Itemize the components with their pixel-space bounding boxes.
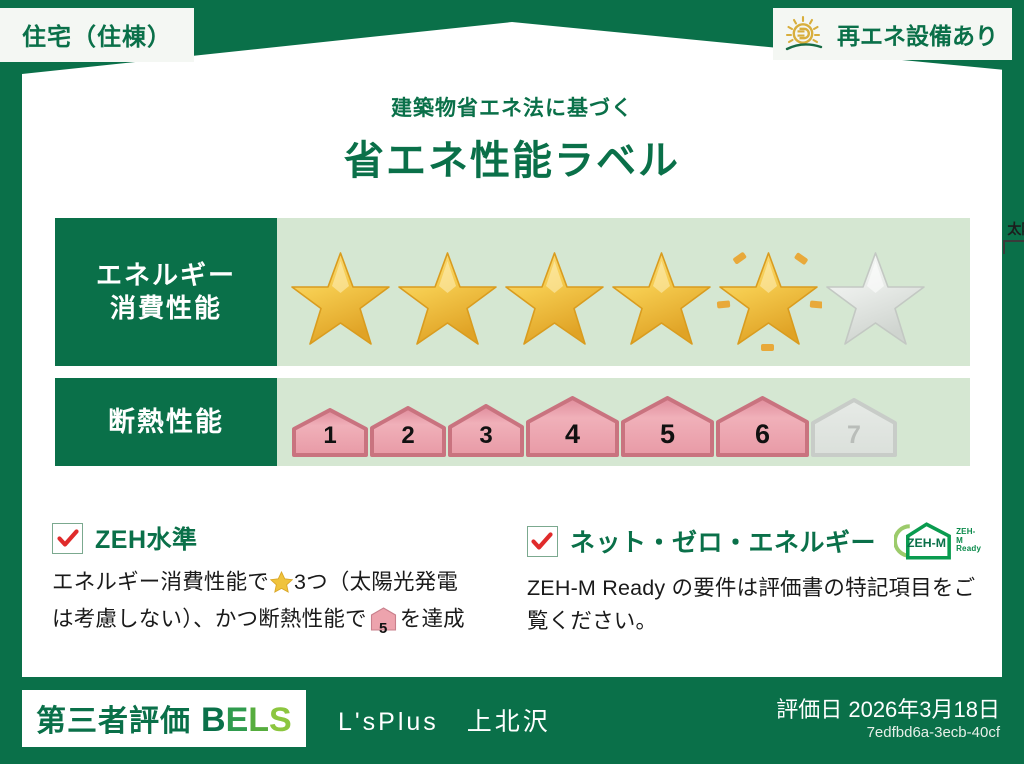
- star-filled: [608, 249, 715, 353]
- star-filled: [501, 249, 608, 353]
- check-icon: [56, 526, 80, 550]
- title-subtitle: 建築物省エネ法に基づく: [0, 92, 1024, 122]
- performance-rows: エネルギー 消費性能 太陽光発電(自家消費)分 断熱性能 1234567: [55, 218, 970, 478]
- note-nze-title: ネット・ゼロ・エネルギー: [570, 523, 876, 559]
- insulation-level-filled: 5: [620, 396, 715, 458]
- zeh-m-house-icon: ZEH-M: [894, 520, 953, 562]
- insulation-level-number: 2: [369, 422, 447, 450]
- label-title-block: 建築物省エネ法に基づく 省エネ性能ラベル: [0, 92, 1024, 186]
- check-icon: [530, 529, 554, 553]
- note-zeh-body: エネルギー消費性能で3つ（太陽光発電は考慮しない）、かつ断熱性能で5を達成: [52, 566, 499, 642]
- insulation-level-empty: 7: [810, 398, 898, 458]
- note-zeh-standard: ZEH水準 エネルギー消費性能で3つ（太陽光発電は考慮しない）、かつ断熱性能で5…: [52, 520, 499, 642]
- star-rating: [287, 246, 962, 356]
- note-nze-body: ZEH-M Ready の要件は評価書の特記項目をご覧ください。: [527, 572, 982, 639]
- zeh-m-ready-line2: Ready: [956, 544, 981, 553]
- star-filled: [287, 249, 394, 353]
- insulation-level-filled: 3: [447, 404, 525, 458]
- note-zeh-text-a: エネルギー消費性能で: [52, 570, 269, 594]
- solar-annotation-text: 太陽光発電(自家消費)分: [967, 219, 1024, 239]
- bels-badge: 第三者評価 BELS: [22, 690, 306, 747]
- insulation-level-number: 5: [620, 419, 715, 450]
- badge-renewable-equipment: 再エネ設備あり: [773, 8, 1012, 60]
- insulation-level-number: 1: [291, 422, 369, 450]
- inline-house-number: 5: [370, 617, 397, 640]
- badge-renewable-label: 再エネ設備あり: [837, 17, 998, 51]
- bels-energy-label: 住宅（住棟）: [0, 0, 1024, 764]
- badge-dwelling-label: 住宅（住棟）: [22, 24, 172, 51]
- title-main: 省エネ性能ラベル: [0, 128, 1024, 186]
- zeh-m-ready-label: ZEH-M Ready: [956, 528, 982, 554]
- row-insulation-label-line1: 断熱性能: [108, 405, 224, 440]
- evaluation-date: 評価日 2026年3月18日: [776, 692, 1000, 724]
- insulation-level-filled: 2: [369, 406, 447, 458]
- solar-annotation-bracket: [1003, 240, 1024, 254]
- insulation-level-filled: 4: [525, 396, 620, 458]
- zeh-m-logo: ZEH-M ZEH-M Ready: [894, 520, 982, 562]
- building-name: L'sPlus 上北沢: [338, 702, 551, 738]
- note-net-zero-energy: ネット・ゼロ・エネルギー ZEH-M ZEH-M Ready ZEH-M Rea…: [527, 520, 982, 642]
- svg-text:ZEH-M: ZEH-M: [907, 536, 946, 550]
- row-energy-performance: エネルギー 消費性能 太陽光発電(自家消費)分: [55, 218, 970, 366]
- evaluation-id: 7edfbd6a-3ecb-40cf: [867, 724, 1000, 741]
- insulation-scale: 1234567: [291, 386, 962, 458]
- insulation-level-number: 3: [447, 422, 525, 450]
- zeh-m-ready-line1: ZEH-M: [956, 527, 975, 545]
- badge-dwelling-type: 住宅（住棟）: [0, 8, 194, 62]
- note-zeh-header: ZEH水準: [52, 520, 499, 556]
- row-insulation-performance: 断熱性能 1234567: [55, 378, 970, 466]
- row-insulation-value: 1234567: [277, 378, 970, 466]
- insulation-level-filled: 6: [715, 396, 810, 458]
- row-energy-label: エネルギー 消費性能: [55, 218, 277, 366]
- zeh-checkbox[interactable]: [52, 523, 83, 554]
- nze-checkbox[interactable]: [527, 526, 558, 557]
- solar-sun-icon: [783, 14, 829, 54]
- bels-en-label: BELS: [201, 701, 292, 740]
- row-energy-value: 太陽光発電(自家消費)分: [277, 218, 970, 366]
- insulation-level-number: 4: [525, 419, 620, 450]
- inline-star-icon: [270, 570, 293, 603]
- row-energy-label-line1: エネルギー: [96, 259, 236, 292]
- insulation-level-number: 7: [810, 421, 898, 450]
- insulation-level-number: 6: [715, 419, 810, 450]
- row-energy-label-line2: 消費性能: [110, 292, 222, 325]
- inline-house-icon: 5: [370, 607, 397, 641]
- note-zeh-text-b: は考慮しない）、かつ断熱性能で: [52, 607, 367, 631]
- insulation-level-filled: 1: [291, 408, 369, 458]
- bels-jp-label: 第三者評価: [36, 696, 191, 740]
- note-zeh-text-c: を達成: [400, 607, 465, 631]
- note-nze-header: ネット・ゼロ・エネルギー ZEH-M ZEH-M Ready: [527, 520, 982, 562]
- star-filled: [394, 249, 501, 353]
- star-filled: [715, 249, 822, 353]
- criteria-notes: ZEH水準 エネルギー消費性能で3つ（太陽光発電は考慮しない）、かつ断熱性能で5…: [52, 520, 982, 642]
- note-zeh-title: ZEH水準: [95, 520, 198, 556]
- label-footer: 第三者評価 BELS L'sPlus 上北沢 評価日 2026年3月18日 7e…: [0, 680, 1024, 764]
- star-empty: [822, 249, 929, 353]
- note-zeh-text-star: 3つ（太陽光発電: [294, 570, 458, 594]
- row-insulation-label: 断熱性能: [55, 378, 277, 466]
